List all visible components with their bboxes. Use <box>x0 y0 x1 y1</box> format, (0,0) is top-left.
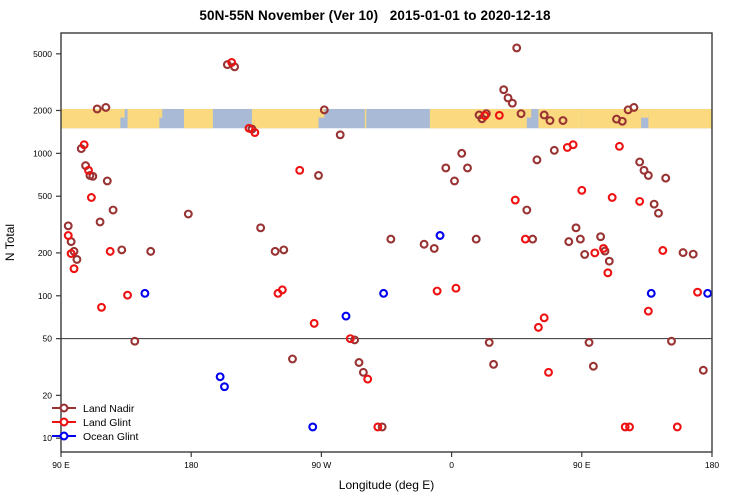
data-point <box>645 308 652 315</box>
data-point <box>380 290 387 297</box>
y-tick-label: 50 <box>43 334 53 344</box>
data-point <box>597 233 604 240</box>
data-point <box>315 172 322 179</box>
data-point <box>604 269 611 276</box>
data-point <box>486 339 493 346</box>
y-tick-label: 1000 <box>33 148 52 158</box>
data-point <box>573 224 580 231</box>
data-point <box>464 165 471 172</box>
data-point <box>97 219 104 226</box>
legend-marker-icon <box>61 419 68 426</box>
data-point <box>680 249 687 256</box>
data-point <box>311 320 318 327</box>
data-point <box>88 194 95 201</box>
data-point <box>529 236 536 243</box>
data-point <box>704 290 711 297</box>
data-point <box>609 194 616 201</box>
data-point <box>645 172 652 179</box>
data-point <box>659 247 666 254</box>
map-coast-detail <box>159 109 162 118</box>
data-point <box>694 289 701 296</box>
data-point <box>451 178 458 185</box>
data-point <box>581 251 588 258</box>
data-point <box>636 159 643 166</box>
legend-label-1: Land Glint <box>83 417 131 429</box>
data-point <box>473 236 480 243</box>
x-tick-label: 90 E <box>52 460 70 470</box>
data-point <box>500 86 507 93</box>
data-point <box>309 424 316 431</box>
data-point <box>565 238 572 245</box>
data-point <box>586 339 593 346</box>
data-point <box>662 175 669 182</box>
data-point <box>668 338 675 345</box>
y-tick-label: 2000 <box>33 105 52 115</box>
data-point <box>81 141 88 148</box>
data-point <box>364 376 371 383</box>
map-coast-detail <box>527 109 531 118</box>
x-tick-label: 90 E <box>573 460 591 470</box>
legend-label-0: Land Nadir <box>83 403 135 415</box>
data-point <box>490 361 497 368</box>
data-point <box>275 290 282 297</box>
data-point <box>185 211 192 218</box>
data-point <box>356 359 363 366</box>
x-tick-label: 180 <box>184 460 198 470</box>
map-land-mass <box>128 109 160 128</box>
data-point <box>523 207 530 214</box>
data-point <box>577 236 584 243</box>
legend-marker-icon <box>61 405 68 412</box>
data-point <box>228 59 235 66</box>
plot-frame <box>61 33 712 452</box>
x-tick-label: 0 <box>449 460 454 470</box>
data-point <box>104 178 111 185</box>
data-point <box>110 207 117 214</box>
y-axis-title: N Total <box>3 224 17 261</box>
data-point <box>522 236 529 243</box>
x-tick-label: 90 W <box>311 460 331 470</box>
data-point <box>289 356 296 363</box>
map-coast-detail <box>641 109 648 118</box>
y-tick-label: 500 <box>38 191 52 201</box>
scatter-plot: 10205010020050010002000500090 E18090 W09… <box>0 0 750 500</box>
data-point <box>630 104 637 111</box>
y-tick-label: 100 <box>38 291 52 301</box>
data-point <box>606 258 613 265</box>
map-land-mass <box>582 109 641 128</box>
data-point <box>337 131 344 138</box>
data-point <box>616 143 623 150</box>
data-point <box>142 290 149 297</box>
legend-label-2: Ocean Glint <box>83 431 139 443</box>
data-point <box>651 201 658 208</box>
data-point <box>534 156 541 163</box>
chart-figure: 50N-55N November (Ver 10) 2015-01-01 to … <box>0 0 750 500</box>
data-point <box>570 141 577 148</box>
series-land-nadir <box>65 45 707 431</box>
data-point <box>551 147 558 154</box>
y-tick-label: 20 <box>43 390 53 400</box>
data-point <box>360 369 367 376</box>
data-point <box>453 285 460 292</box>
data-point <box>458 150 465 157</box>
data-point <box>648 290 655 297</box>
x-axis-title: Longitude (deg E) <box>339 478 434 492</box>
data-point <box>512 197 519 204</box>
data-point <box>434 288 441 295</box>
data-point <box>387 236 394 243</box>
data-point <box>442 165 449 172</box>
data-point <box>272 248 279 255</box>
data-point <box>437 232 444 239</box>
data-point <box>431 245 438 252</box>
data-point <box>535 324 542 331</box>
data-point <box>98 304 105 311</box>
data-point <box>221 383 228 390</box>
data-point <box>636 198 643 205</box>
data-point <box>674 424 681 431</box>
x-tick-label: 180 <box>705 460 719 470</box>
data-point <box>421 241 428 248</box>
y-tick-label: 10 <box>43 433 53 443</box>
data-point <box>280 246 287 253</box>
data-point <box>118 246 125 253</box>
data-point <box>124 292 131 299</box>
data-point <box>343 313 350 320</box>
data-point <box>591 250 598 257</box>
map-coast-detail <box>120 109 124 118</box>
data-point <box>147 248 154 255</box>
map-land-mass <box>184 109 213 128</box>
data-point <box>590 363 597 370</box>
data-point <box>74 256 81 263</box>
data-point <box>541 314 548 321</box>
data-point <box>85 167 92 174</box>
series-ocean-glint <box>142 232 712 430</box>
data-point <box>655 210 662 217</box>
map-land-mass <box>648 109 712 128</box>
data-point <box>107 248 114 255</box>
data-point <box>513 45 520 52</box>
y-tick-label: 5000 <box>33 49 52 59</box>
data-point <box>102 104 109 111</box>
legend-marker-icon <box>61 433 68 440</box>
data-point <box>296 167 303 174</box>
data-point <box>690 251 697 258</box>
world-map-band <box>61 109 712 128</box>
data-point <box>217 373 224 380</box>
map-land-mass <box>252 109 319 128</box>
data-point <box>257 224 264 231</box>
map-land-mass <box>61 109 120 128</box>
data-point <box>71 265 78 272</box>
data-point <box>65 232 72 239</box>
data-point <box>578 187 585 194</box>
data-point <box>509 100 516 107</box>
data-point <box>700 367 707 374</box>
data-point <box>131 338 138 345</box>
map-land-mass <box>365 109 366 128</box>
data-point <box>65 222 72 229</box>
y-tick-label: 200 <box>38 248 52 258</box>
data-point <box>545 369 552 376</box>
